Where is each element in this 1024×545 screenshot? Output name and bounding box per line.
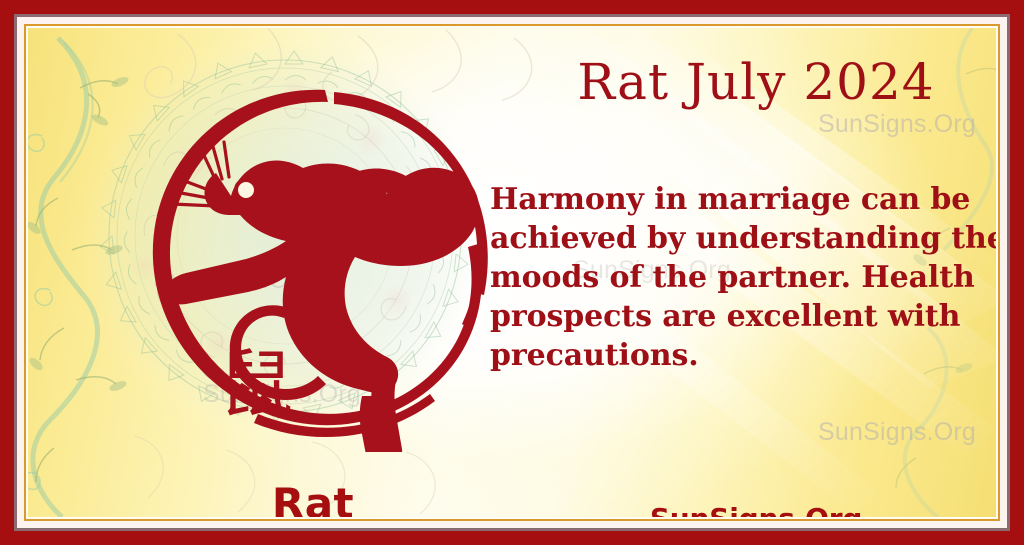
rat-zodiac-icon: 鼠 (138, 80, 488, 452)
zodiac-horoscope-card: SunSigns.Org SunSigns.Org SunSigns.Org S… (0, 0, 1024, 545)
sign-label: Rat (138, 483, 488, 517)
rat-silhouette-icon (166, 142, 479, 452)
horoscope-text: Harmony in marriage can be achieved by u… (490, 180, 996, 375)
rat-zodiac-emblem: 鼠 (138, 80, 488, 452)
card-canvas: SunSigns.Org SunSigns.Org SunSigns.Org S… (28, 28, 996, 517)
footer-brand: SunSigns.Org (486, 505, 996, 517)
chinese-character-rat: 鼠 (219, 342, 293, 428)
page-title: Rat July 2024 (486, 56, 996, 109)
